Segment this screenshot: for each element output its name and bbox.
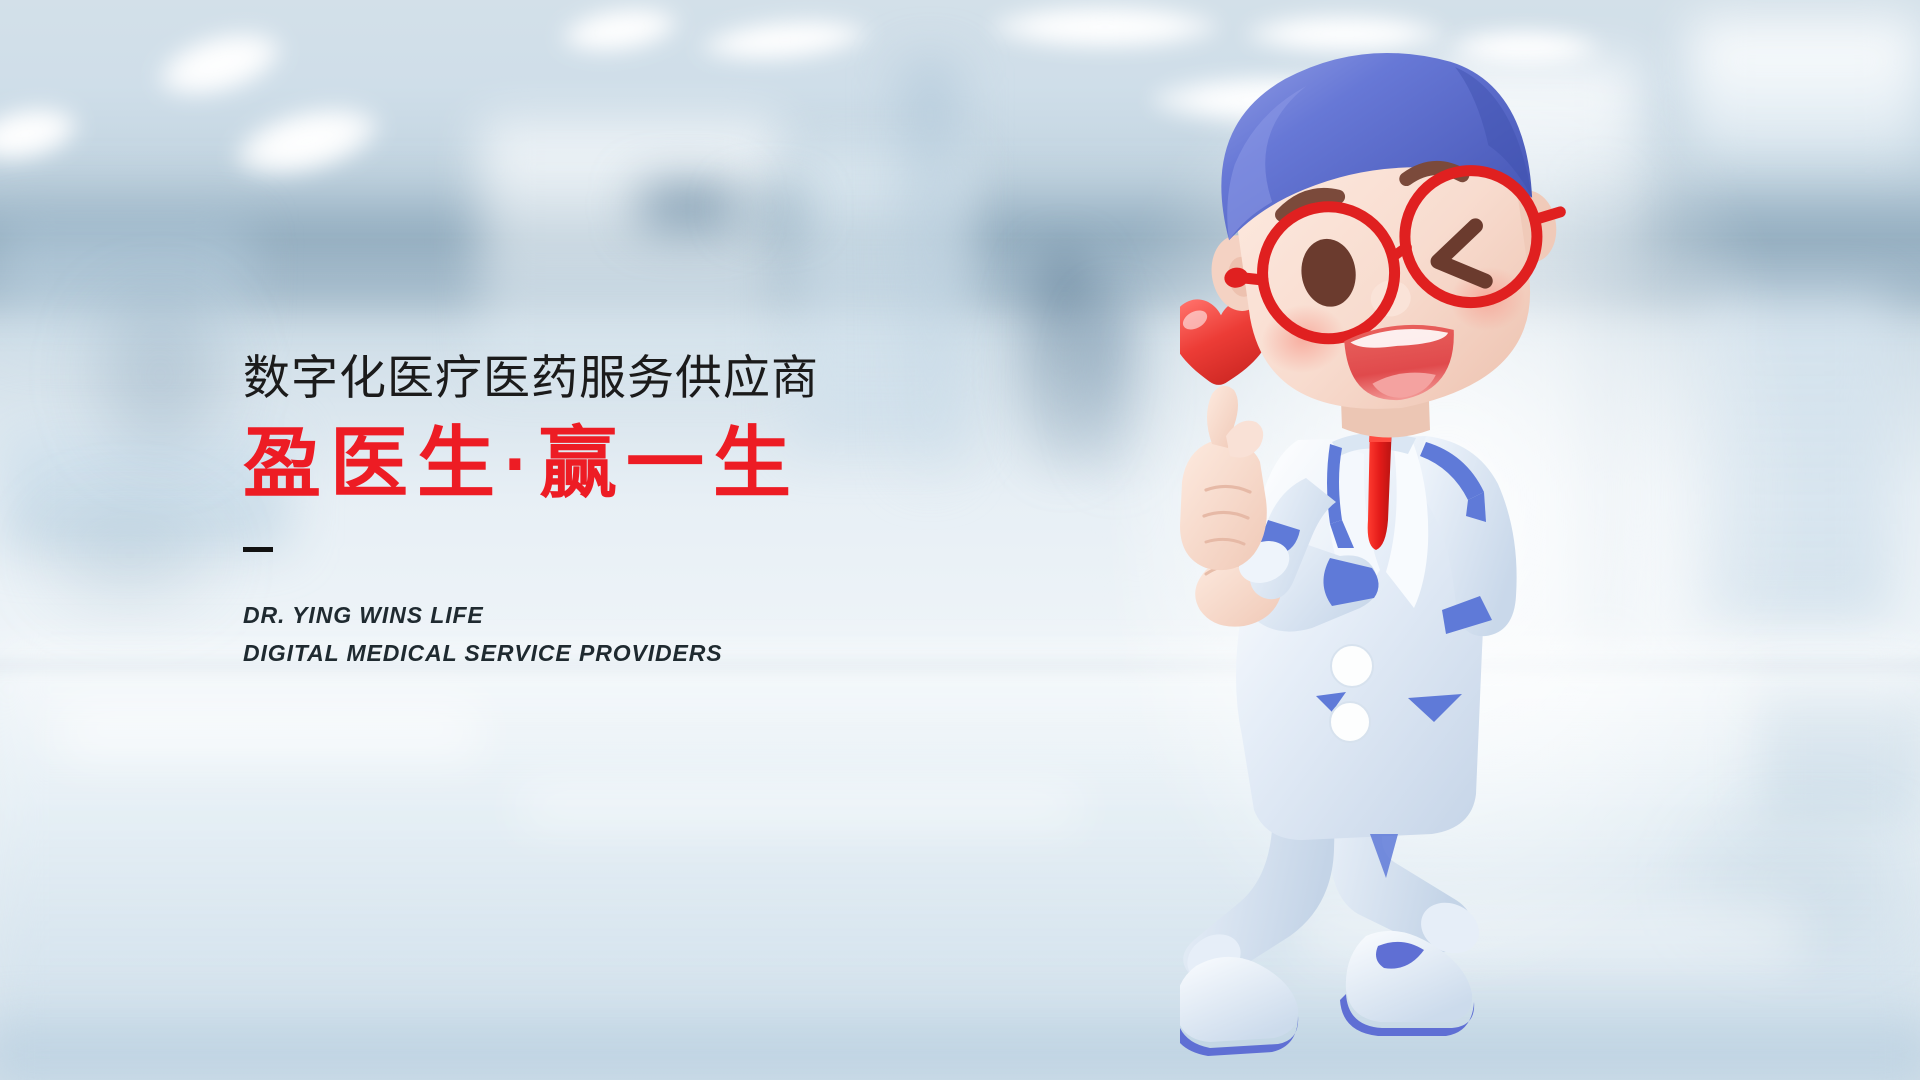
distant-object — [50, 510, 210, 600]
doctor-mascot — [1180, 50, 1740, 1060]
hero-tagline: DR. YING WINS LIFE DIGITAL MEDICAL SERVI… — [243, 596, 1063, 673]
shoe-front — [1180, 957, 1298, 1056]
ceiling-fixture — [735, 195, 805, 221]
hero-copy: 数字化医疗医药服务供应商 盈医生·赢一生 DR. YING WINS LIFE … — [243, 352, 1063, 673]
ceiling-light — [1245, 14, 1445, 54]
distant-person — [1080, 300, 1150, 480]
distant-person-shadow — [100, 300, 220, 450]
doctor-mascot-svg — [1180, 50, 1740, 1060]
divider-rule — [243, 547, 273, 552]
hero-headline: 盈医生·赢一生 — [243, 423, 1063, 505]
ceiling-light — [990, 5, 1220, 49]
floor-highlight — [60, 700, 480, 760]
floor-highlight — [520, 780, 1080, 830]
glass-partition — [480, 120, 780, 380]
head — [1184, 50, 1584, 432]
hero-banner: 数字化医疗医药服务供应商 盈医生·赢一生 DR. YING WINS LIFE … — [0, 0, 1920, 1080]
ceiling-fixture — [640, 185, 735, 227]
tagline-line-1: DR. YING WINS LIFE — [243, 596, 1063, 635]
tagline-line-2: DIGITAL MEDICAL SERVICE PROVIDERS — [243, 634, 1063, 673]
finger-heart-hand — [1180, 386, 1267, 570]
hero-subheadline: 数字化医疗医药服务供应商 — [243, 352, 1063, 405]
